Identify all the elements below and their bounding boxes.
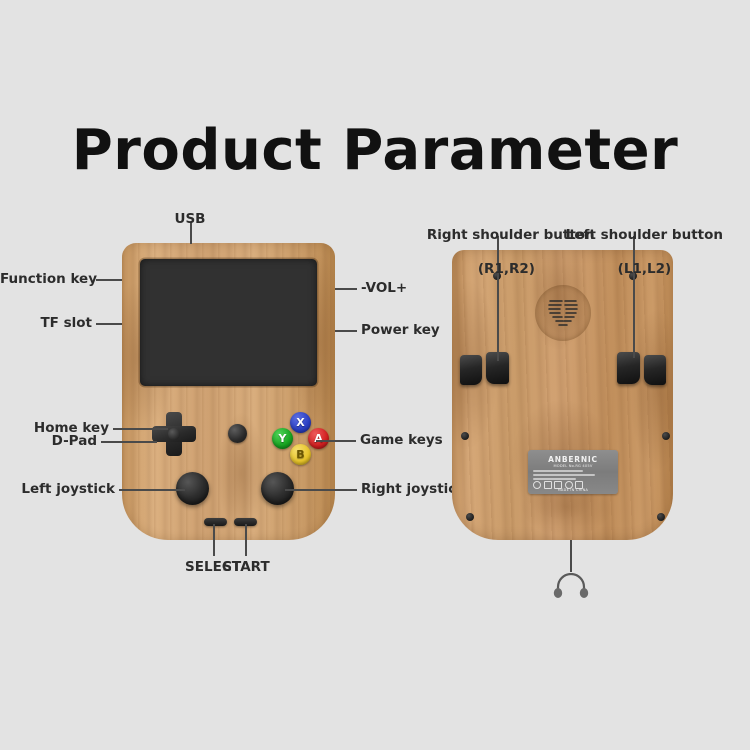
label-left-shoulder-line1: Left shoulder button: [566, 227, 723, 243]
label-function-key: Function key: [0, 271, 92, 288]
sticker-origin-text: MADE IN CHINA: [528, 488, 618, 492]
leader-line-tf-slot: [96, 323, 122, 325]
leader-line-power-key: [335, 330, 357, 332]
screw-hole: [657, 513, 665, 521]
screw-hole: [466, 513, 474, 521]
screw-hole: [662, 432, 670, 440]
label-d-pad: D-Pad: [0, 433, 97, 450]
label-right-joystick: Right joystick: [361, 481, 465, 498]
home-key-button[interactable]: [228, 424, 247, 443]
leader-line-left-joystick: [119, 489, 185, 491]
product-parameter-diagram: Product Parameter X Y A B USB Function k…: [0, 0, 750, 750]
leader-line-right-joystick: [285, 489, 357, 491]
leader-line-home-key: [113, 428, 168, 430]
leader-line-headphone-jack: [570, 540, 572, 572]
select-button[interactable]: [204, 518, 227, 526]
leader-line-start: [245, 524, 247, 556]
console-screen: [140, 259, 317, 386]
label-tf-slot: TF slot: [0, 315, 92, 332]
label-power-key: Power key: [361, 322, 440, 339]
regulatory-sticker: ANBERNIC MODEL No.RG 405V MADE IN CHINA: [528, 450, 618, 494]
shoulder-button-r2[interactable]: [460, 355, 482, 385]
game-key-b[interactable]: B: [290, 444, 311, 465]
label-start: START: [212, 559, 280, 576]
label-usb: USB: [150, 211, 230, 228]
d-pad[interactable]: [152, 412, 196, 456]
label-vol: -VOL+: [361, 280, 407, 297]
game-key-y[interactable]: Y: [272, 428, 293, 449]
shoulder-button-l1[interactable]: [617, 352, 640, 384]
page-title: Product Parameter: [0, 120, 750, 182]
d-pad-center: [168, 428, 180, 440]
label-left-shoulder-line2: (L1,L2): [618, 261, 671, 277]
leader-line-game-keys: [316, 440, 356, 442]
sticker-model-text: MODEL No.RG 405V: [528, 464, 618, 468]
game-key-a[interactable]: A: [308, 428, 329, 449]
leader-line-d-pad: [101, 441, 157, 443]
leader-line-select: [213, 524, 215, 556]
speaker-slots-icon: [544, 294, 582, 332]
label-game-keys: Game keys: [360, 432, 443, 449]
sticker-brand-text: ANBERNIC: [528, 455, 618, 464]
shoulder-button-l2[interactable]: [644, 355, 666, 385]
screw-hole: [461, 432, 469, 440]
wood-grain-swirl: [630, 310, 673, 470]
leader-line-function-key: [96, 279, 122, 281]
game-key-x[interactable]: X: [290, 412, 311, 433]
label-left-shoulder-button: Left shoulder button (L1,L2): [546, 210, 724, 294]
headphone-icon: [552, 573, 590, 599]
leader-line-vol: [335, 288, 357, 290]
label-right-shoulder-line2: (R1,R2): [478, 261, 535, 277]
label-left-joystick: Left joystick: [0, 481, 115, 498]
